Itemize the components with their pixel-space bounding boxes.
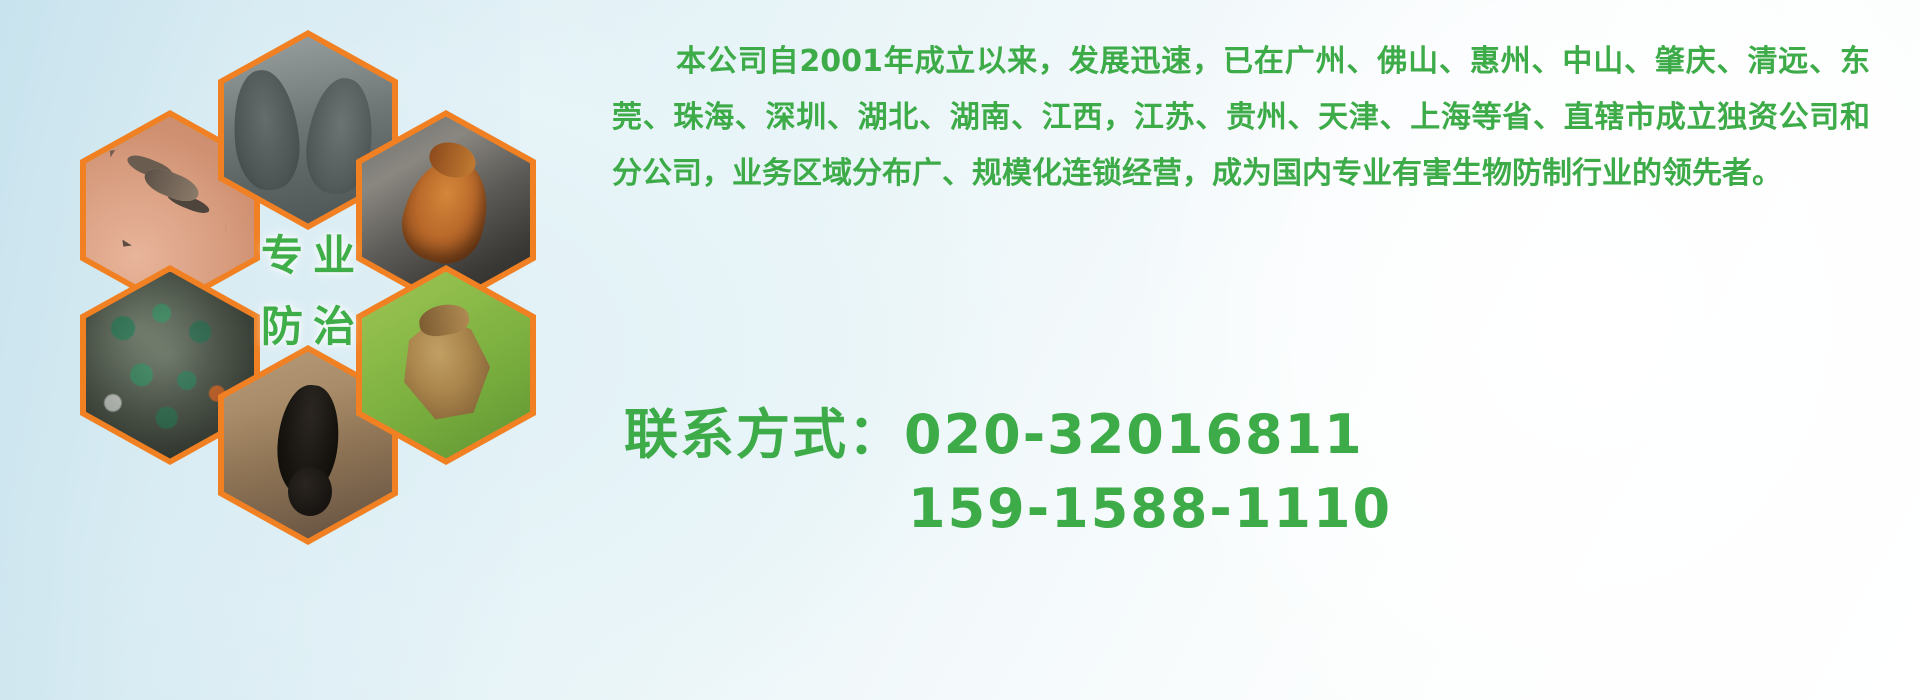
logo-slogan-line1: 专业 bbox=[251, 222, 365, 283]
promo-banner: 专业 防治 本公司自2001年成立以来，发展迅速，已在广州、佛山、惠州、中山、肇… bbox=[0, 0, 1920, 700]
logo-slogan-line2: 防治 bbox=[251, 293, 365, 354]
contact-line-secondary[interactable]: 159-1588-1110 bbox=[624, 472, 1392, 546]
about-company-text: 本公司自2001年成立以来，发展迅速，已在广州、佛山、惠州、中山、肇庆、清远、东… bbox=[612, 34, 1870, 202]
contact-block: 联系方式：020-32016811 159-1588-1110 bbox=[624, 398, 1392, 546]
contact-line-primary[interactable]: 联系方式：020-32016811 bbox=[624, 403, 1364, 466]
about-paragraph: 本公司自2001年成立以来，发展迅速，已在广州、佛山、惠州、中山、肇庆、清远、东… bbox=[612, 34, 1870, 202]
hexagon-image-cluster: 专业 防治 bbox=[80, 10, 600, 570]
